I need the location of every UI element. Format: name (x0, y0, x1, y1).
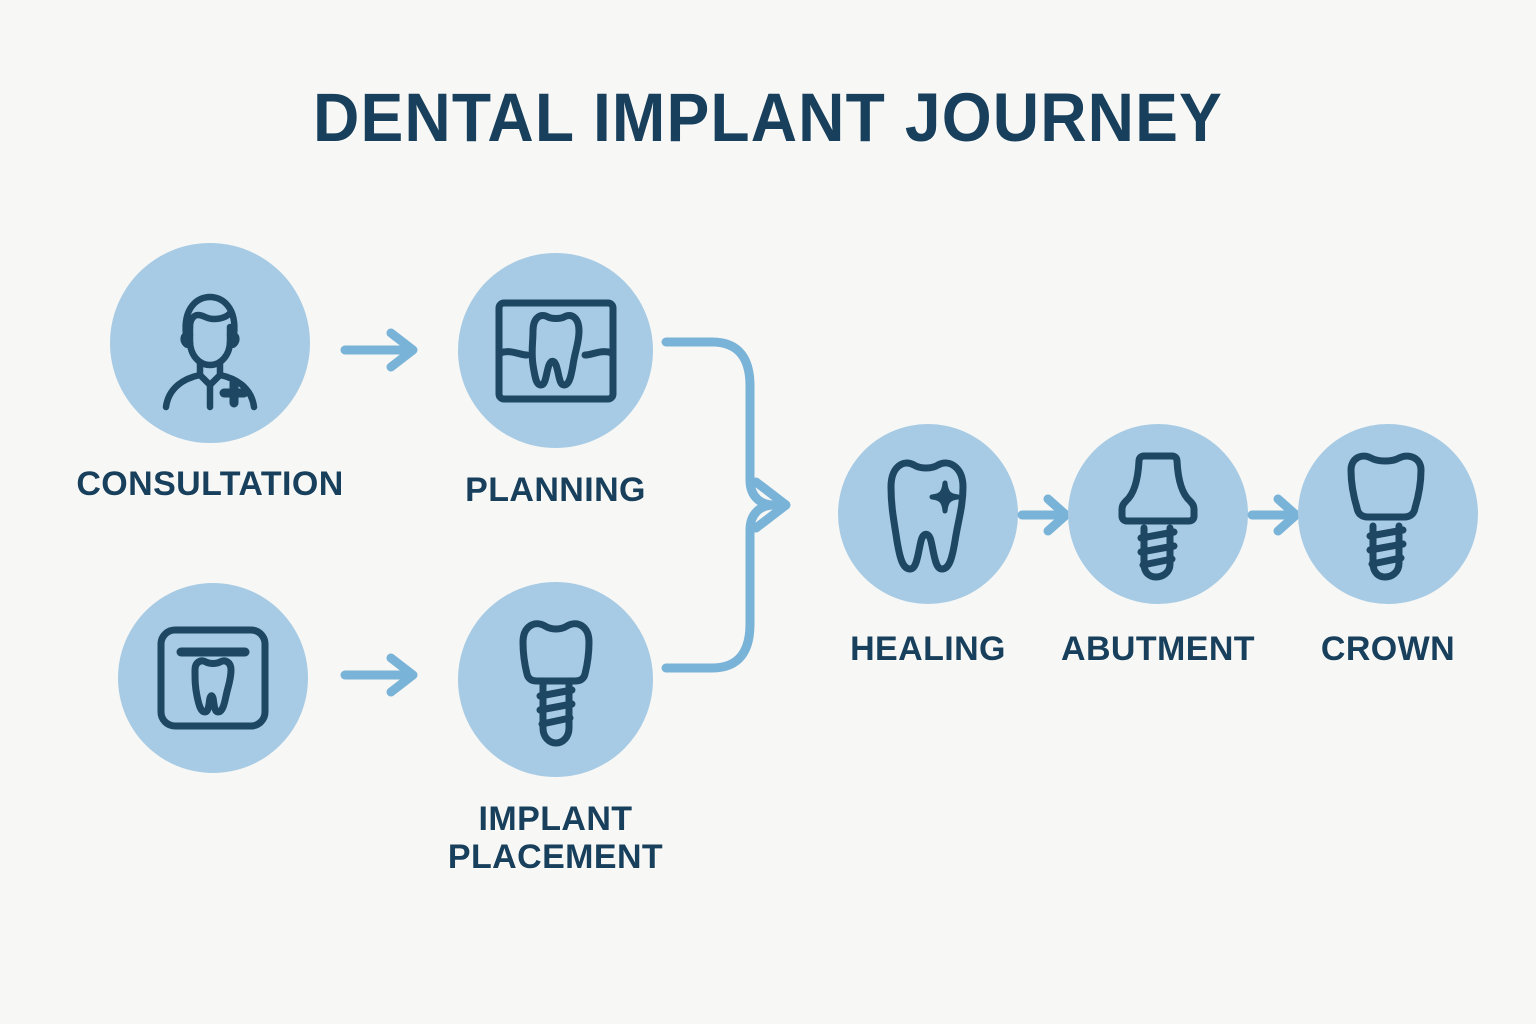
infographic-canvas: DENTAL IMPLANT JOURNEY (0, 0, 1536, 1024)
dental-implant-screw-icon (501, 610, 611, 750)
node-implant-placement[interactable]: IMPLANT PLACEMENT (458, 582, 653, 777)
node-label-crown: CROWN (1321, 630, 1455, 668)
node-label-planning: PLANNING (465, 471, 646, 509)
node-circle (110, 243, 310, 443)
label-line-1: IMPLANT (479, 800, 633, 838)
merge-connector (660, 330, 830, 680)
label-line-2: PLACEMENT (448, 838, 663, 876)
node-planning[interactable]: PLANNING (458, 253, 653, 448)
node-crown[interactable]: CROWN (1298, 424, 1478, 604)
node-dental-scan[interactable] (118, 583, 308, 773)
dental-scan-screen-icon (153, 622, 273, 734)
node-label-healing: HEALING (850, 630, 1006, 668)
node-consultation[interactable]: CONSULTATION (110, 243, 310, 443)
node-circle (1298, 424, 1478, 604)
dentist-person-icon (150, 283, 270, 403)
node-circle (838, 424, 1018, 604)
abutment-post-icon (1108, 446, 1208, 582)
arrow-consultation-to-planning (343, 325, 429, 375)
node-label-consultation: CONSULTATION (76, 465, 343, 503)
node-circle (458, 582, 653, 777)
page-title: DENTAL IMPLANT JOURNEY (54, 78, 1482, 157)
tooth-sparkle-icon (873, 449, 983, 579)
node-circle (118, 583, 308, 773)
node-label-abutment: ABUTMENT (1061, 630, 1255, 668)
node-circle (458, 253, 653, 448)
crown-implant-icon (1335, 446, 1441, 582)
arrow-scan-to-implant-placement (343, 650, 429, 700)
node-abutment[interactable]: ABUTMENT (1068, 424, 1248, 604)
node-label-implant-placement: IMPLANT PLACEMENT (391, 800, 721, 876)
dental-xray-tooth-icon (491, 291, 621, 411)
node-healing[interactable]: HEALING (838, 424, 1018, 604)
node-circle (1068, 424, 1248, 604)
